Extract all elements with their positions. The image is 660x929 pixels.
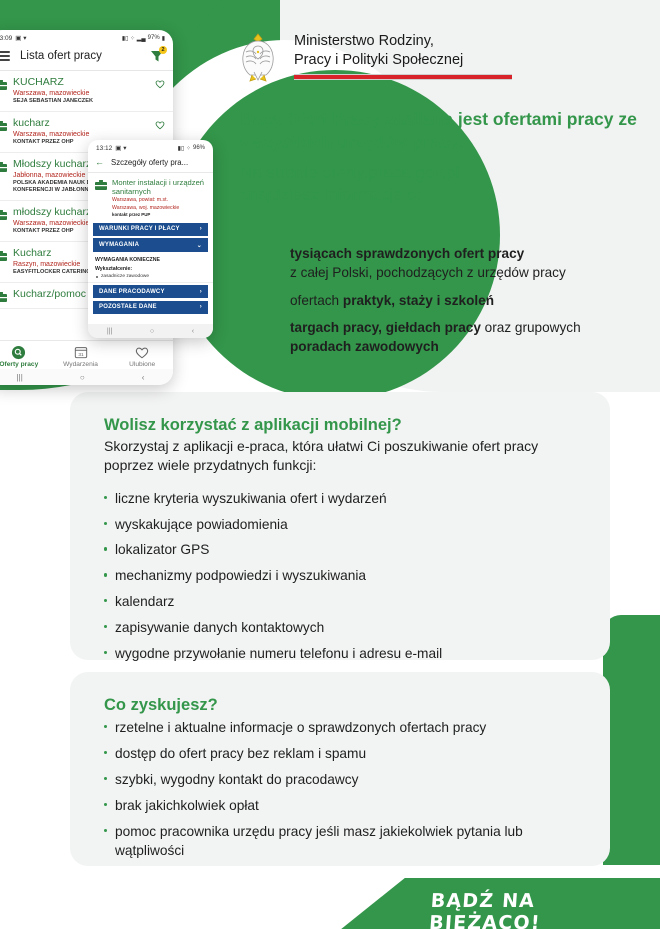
list-item: targach pracy, giełdach pracy oraz grupo… (278, 318, 660, 357)
list-item: wygodne przywołanie numeru telefonu i ad… (104, 645, 576, 664)
top-item-2-mid: oraz grupowych (481, 320, 581, 335)
top-item-1-bold: praktyk, staży i szkoleń (343, 293, 494, 308)
list-item: liczne kryteria wyszukiwania ofert i wyd… (104, 490, 576, 509)
offer-location-2: Warszawa, woj. mazowieckie (112, 205, 206, 212)
section-label: DANE PRACODAWCY (99, 289, 165, 295)
list-item: dostęp do ofert pracy bez reklam i spamu (104, 745, 576, 764)
list-item: pomoc pracownika urzędu pracy jeśli masz… (104, 823, 576, 861)
list-item: brak jakichkolwiek opłat (104, 797, 576, 816)
app-bar: Lista ofert pracy 2 (0, 44, 173, 71)
app-card-heading: Wolisz korzystać z aplikacji mobilnej? (104, 416, 576, 435)
ministry-line-2: Pracy i Polityki Społecznej (294, 51, 512, 70)
favorite-heart-icon[interactable] (155, 79, 165, 89)
back-arrow-icon[interactable]: ← (95, 157, 104, 167)
favorite-heart-icon[interactable] (155, 120, 165, 130)
top-item-2-bold2: poradach zawodowych (290, 339, 439, 354)
briefcase-icon (0, 120, 7, 131)
list-item: kalendarz (104, 593, 576, 612)
job-title: KUCHARZ (13, 77, 164, 89)
phone-offer-details-screenshot: 13:12 ▣ ▾ ▮▯ ⁘ 96% ← Szczegóły oferty pr… (88, 140, 213, 338)
top-item-0-rest: z całej Polski, pochodzących z urzędów p… (290, 265, 566, 280)
chevron-right-icon: › (200, 226, 202, 232)
status-right: ▮▯ ⁘ 96% (178, 145, 205, 152)
battery-icon: ▮ (162, 35, 165, 42)
recents-button[interactable]: ||| (107, 328, 112, 335)
battery-level: 96% (193, 145, 205, 151)
job-location: Warszawa, mazowieckie (13, 131, 164, 138)
svg-text:31: 31 (78, 352, 84, 358)
section-warunki-pracy[interactable]: WARUNKI PRACY I PŁACY › (93, 223, 208, 236)
android-nav-bar: ||| ○ ‹ (88, 324, 213, 338)
app-bar-title: Szczegóły oferty pra... (111, 158, 188, 167)
offer-header: Monter instalacji i urządzeń sanitarnych… (88, 173, 213, 220)
list-item: wyskakujące powiadomienia (104, 516, 576, 535)
briefcase-icon (0, 250, 7, 261)
briefcase-icon (0, 291, 7, 302)
oferty-praca-link[interactable]: oferty.praca.gov.pl (322, 163, 459, 182)
section-label: WYMAGANIA (99, 242, 139, 248)
calendar-icon: 31 (50, 344, 112, 360)
benefits-list: rzetelne i aktualne informacje o sprawdz… (104, 719, 576, 860)
app-feature-list: liczne kryteria wyszukiwania ofert i wyd… (104, 490, 576, 664)
list-item: lokalizator GPS (104, 541, 576, 560)
list-item: zasadnicze zawodowe (88, 273, 213, 283)
signal-icon: ▮▯ ⁘ (178, 145, 191, 152)
tab-label: Oferty pracy (0, 361, 50, 368)
poster-canvas: BĄDŹ NA BIEŻĄCO! Ministerstwo Rodziny, (0, 0, 660, 929)
requirements-heading: WYMAGANIA KONIECZNE (88, 255, 213, 265)
offer-contact-note: kontakt przez PUP (112, 212, 206, 217)
briefcase-icon (0, 161, 7, 172)
education-label: Wykształcenie: (88, 265, 213, 273)
headline-sub-suffix: znajdziesz informacje o: (240, 184, 640, 206)
top-item-2-bold: targach pracy, giełdach pracy (290, 320, 481, 335)
green-right-shape (603, 615, 660, 865)
list-item: tysiącach sprawdzonych ofert pracyz całe… (278, 244, 660, 283)
ministry-line-1: Ministerstwo Rodziny, (294, 32, 512, 51)
tab-label: Ulubione (111, 361, 173, 368)
tab-oferty-pracy[interactable]: Oferty pracy (0, 344, 50, 368)
ministry-logo: Ministerstwo Rodziny, Pracy i Polityki S… (232, 28, 512, 86)
headline-block: Baza Ofert Pracy zasilana jest ofertami … (240, 108, 640, 206)
signal-icon: ▮▯ ⁘ ▂▄ (122, 35, 146, 42)
heart-icon (111, 344, 173, 360)
ministry-red-rule (294, 74, 512, 80)
chevron-right-icon: › (200, 289, 202, 295)
list-item: szybki, wygodny kontakt do pracodawcy (104, 771, 576, 790)
list-item: zapisywanie danych kontaktowych (104, 619, 576, 638)
section-label: POZOSTAŁE DANE (99, 304, 157, 310)
benefits-card: Co zyskujesz? rzetelne i aktualne inform… (70, 672, 610, 866)
headline-sub-prefix: Na stronie (240, 163, 322, 182)
top-item-0-bold: tysiącach sprawdzonych ofert pracy (290, 246, 524, 261)
ministry-name: Ministerstwo Rodziny, Pracy i Polityki S… (294, 28, 512, 80)
tab-wydarzenia[interactable]: 31 Wydarzenia (50, 344, 112, 368)
filter-badge: 2 (159, 46, 167, 54)
status-left: 13:09 ▣ ▾ (0, 34, 27, 42)
app-bar-title: Lista ofert pracy (20, 50, 140, 62)
search-icon (0, 344, 50, 360)
tab-label: Wydarzenia (50, 361, 112, 368)
status-bar: 13:09 ▣ ▾ ▮▯ ⁘ ▂▄ 97% ▮ (0, 30, 173, 44)
status-right: ▮▯ ⁘ ▂▄ 97% ▮ (122, 35, 165, 42)
briefcase-icon (95, 179, 107, 190)
list-item: rzetelne i aktualne informacje o sprawdz… (104, 719, 576, 738)
section-label: WARUNKI PRACY I PŁACY (99, 226, 180, 232)
offer-title: Monter instalacji i urządzeń sanitarnych (112, 178, 206, 196)
list-item: ofertach praktyk, staży i szkoleń (278, 291, 660, 310)
battery-level: 97% (148, 35, 160, 41)
app-bar: ← Szczegóły oferty pra... (88, 154, 213, 173)
job-title: kucharz (13, 118, 164, 130)
status-time: 13:09 (0, 35, 12, 42)
android-nav-bar: ||| ○ ‹ (0, 369, 173, 385)
status-left: 13:12 ▣ ▾ (96, 144, 127, 152)
status-icons-left: ▣ ▾ (15, 34, 26, 42)
home-button[interactable]: ○ (80, 373, 85, 382)
benefits-card-heading: Co zyskujesz? (104, 696, 576, 715)
back-button[interactable]: ‹ (142, 373, 145, 382)
section-dane-pracodawcy[interactable]: DANE PRACODAWCY › (93, 285, 208, 298)
menu-icon[interactable] (0, 51, 10, 61)
filter-icon[interactable]: 2 (150, 49, 164, 63)
table-row[interactable]: KUCHARZ Warszawa, mazowieckie SEJA SEBAS… (0, 71, 173, 112)
job-location: Warszawa, mazowieckie (13, 90, 164, 97)
recents-button[interactable]: ||| (17, 373, 23, 382)
chevron-right-icon: › (200, 304, 202, 310)
status-bar: 13:12 ▣ ▾ ▮▯ ⁘ 96% (88, 140, 213, 154)
bottom-tab-bar: Oferty pracy 31 Wydarzenia Ulubione (0, 340, 173, 368)
section-wymagania[interactable]: WYMAGANIA ⌄ (93, 238, 208, 252)
mobile-app-card: Wolisz korzystać z aplikacji mobilnej? S… (70, 392, 610, 660)
tab-ulubione[interactable]: Ulubione (111, 344, 173, 368)
top-item-1-pre: ofertach (290, 293, 343, 308)
status-icons-left: ▣ ▾ (115, 144, 126, 152)
chevron-down-icon: ⌄ (197, 242, 202, 249)
top-bullet-list: tysiącach sprawdzonych ofert pracyz całe… (238, 244, 660, 364)
briefcase-icon (0, 79, 7, 90)
page-title: Baza Ofert Pracy zasilana jest ofertami … (240, 108, 640, 155)
back-button[interactable]: ‹ (192, 328, 194, 335)
offer-location-1: Warszawa, powiat: m.st. (112, 197, 206, 204)
briefcase-icon (0, 209, 7, 220)
section-pozostale-dane[interactable]: POZOSTAŁE DANE › (93, 301, 208, 314)
banner-text: BĄDŹ NA BIEŻĄCO! (428, 890, 631, 929)
home-button[interactable]: ○ (150, 328, 154, 335)
headline-subtitle: Na stronie oferty.praca.gov.pl (240, 162, 640, 184)
list-item: mechanizmy podpowiedzi i wyszukiwania (104, 567, 576, 586)
status-time: 13:12 (96, 145, 112, 152)
app-card-lead: Skorzystaj z aplikacji e-praca, która uł… (104, 437, 576, 476)
polish-eagle-emblem (232, 28, 284, 86)
job-employer: SEJA SEBASTIAN JANECZEK (13, 98, 164, 105)
